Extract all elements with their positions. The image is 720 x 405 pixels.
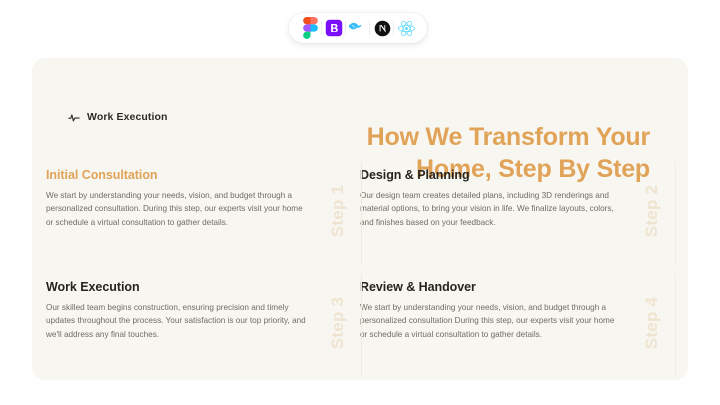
step-title: Work Execution [46,280,306,294]
step-card: Design & Planning Our design team create… [360,168,674,254]
step-number-tag: Step 2 [630,168,674,254]
step-description: Our skilled team begins construction, en… [46,301,306,341]
tailwind-icon[interactable] [346,16,370,40]
step-card: Work Execution Our skilled team begins c… [46,280,360,366]
step-card-body: Review & Handover We start by understand… [360,280,630,341]
section-eyebrow-label: Work Execution [87,111,168,123]
step-number-tag: Step 4 [630,280,674,366]
tech-toolbar[interactable] [289,13,427,43]
step-description: We start by understanding your needs, vi… [360,301,620,341]
process-panel: Work Execution How We Transform Your Hom… [32,58,688,380]
nextjs-icon[interactable] [370,16,394,40]
pulse-icon [68,112,80,123]
step-card-body: Design & Planning Our design team create… [360,168,630,229]
bootstrap-icon[interactable] [322,16,346,40]
step-number-label: Step 2 [642,185,662,237]
step-number-tag: Step 3 [316,280,360,366]
step-card: Initial Consultation We start by underst… [46,168,360,254]
step-number-label: Step 1 [328,185,348,237]
figma-icon[interactable] [298,16,322,40]
step-description: We start by understanding your needs, vi… [46,189,306,229]
step-number-label: Step 4 [642,297,662,349]
step-title: Review & Handover [360,280,620,294]
steps-grid: Initial Consultation We start by underst… [46,168,674,366]
step-card-body: Initial Consultation We start by underst… [46,168,316,229]
step-card-body: Work Execution Our skilled team begins c… [46,280,316,341]
section-eyebrow: Work Execution [68,111,168,123]
step-title: Design & Planning [360,168,620,182]
step-card: Review & Handover We start by understand… [360,280,674,366]
react-icon[interactable] [394,16,418,40]
step-number-tag: Step 1 [316,168,360,254]
step-number-label: Step 3 [328,297,348,349]
step-description: Our design team creates detailed plans, … [360,189,620,229]
step-title: Initial Consultation [46,168,306,182]
